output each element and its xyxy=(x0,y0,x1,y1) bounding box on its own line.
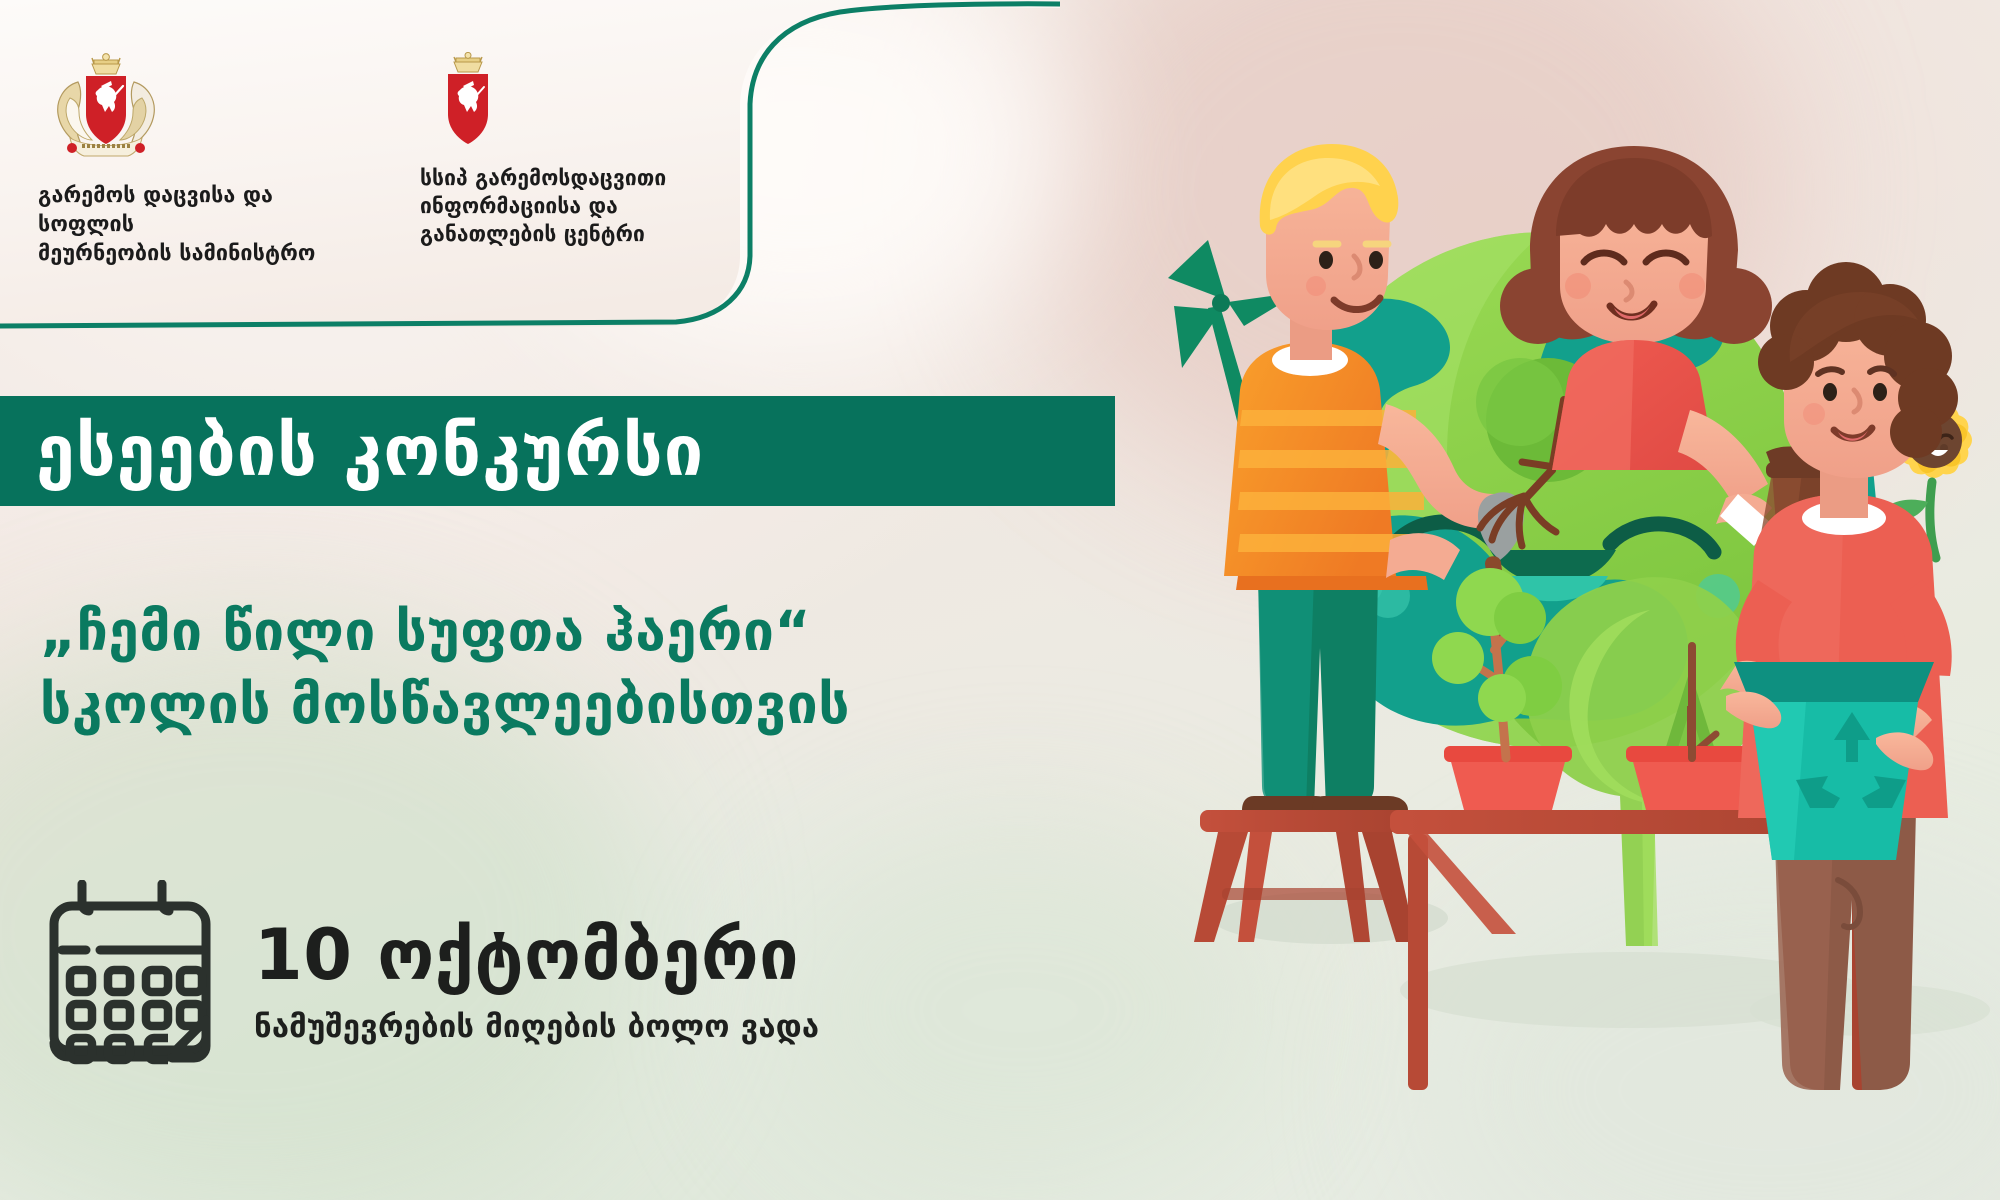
logo-center-line-3: განათლების ცენტრი xyxy=(420,220,666,248)
page-title: ესეების კონკურსი xyxy=(36,416,704,486)
logo-center-line-1: სსიპ გარემოსდაცვითი xyxy=(420,164,666,192)
logo-center-line-2: ინფორმაციისა და xyxy=(420,192,666,220)
logo-ministry-label: გარემოს დაცვისა და სოფლის მეურნეობის სამ… xyxy=(38,182,338,268)
georgia-coat-of-arms-full-icon xyxy=(48,52,164,164)
logo-ministry-line-2: მეურნეობის სამინისტრო xyxy=(38,240,338,269)
deadline-block: 10 ოქტომბერი ნამუშევრების მიღების ბოლო ვ… xyxy=(30,880,819,1085)
logo-row: გარემოს დაცვისა და სოფლის მეურნეობის სამ… xyxy=(0,52,860,268)
deadline-date: 10 ოქტომბერი xyxy=(254,920,819,990)
logo-center-label: სსიპ გარემოსდაცვითი ინფორმაციისა და განა… xyxy=(420,164,666,248)
logo-center: სსიპ გარემოსდაცვითი ინფორმაციისა და განა… xyxy=(420,52,750,248)
subtitle-line-2: სკოლის მოსწავლეებისთვის xyxy=(40,668,1220,741)
children-planting-earth-illustration xyxy=(1090,110,2000,1110)
logo-ministry: გარემოს დაცვისა და სოფლის მეურნეობის სამ… xyxy=(38,52,338,268)
calendar-icon xyxy=(30,880,230,1085)
subtitle-line-1: „ჩემი წილი სუფთა ჰაერი“ xyxy=(40,595,1220,668)
deadline-note: ნამუშევრების მიღების ბოლო ვადა xyxy=(254,1010,819,1044)
logo-ministry-line-1: გარემოს დაცვისა და სოფლის xyxy=(38,182,338,240)
title-bar: ესეების კონკურსი xyxy=(0,396,1115,506)
poster-canvas: გარემოს დაცვისა და სოფლის მეურნეობის სამ… xyxy=(0,0,2000,1200)
georgia-coat-of-arms-shield-icon xyxy=(434,52,502,150)
deadline-text: 10 ოქტომბერი ნამუშევრების მიღების ბოლო ვ… xyxy=(254,920,819,1044)
subtitle: „ჩემი წილი სუფთა ჰაერი“ სკოლის მოსწავლეე… xyxy=(40,595,1220,740)
